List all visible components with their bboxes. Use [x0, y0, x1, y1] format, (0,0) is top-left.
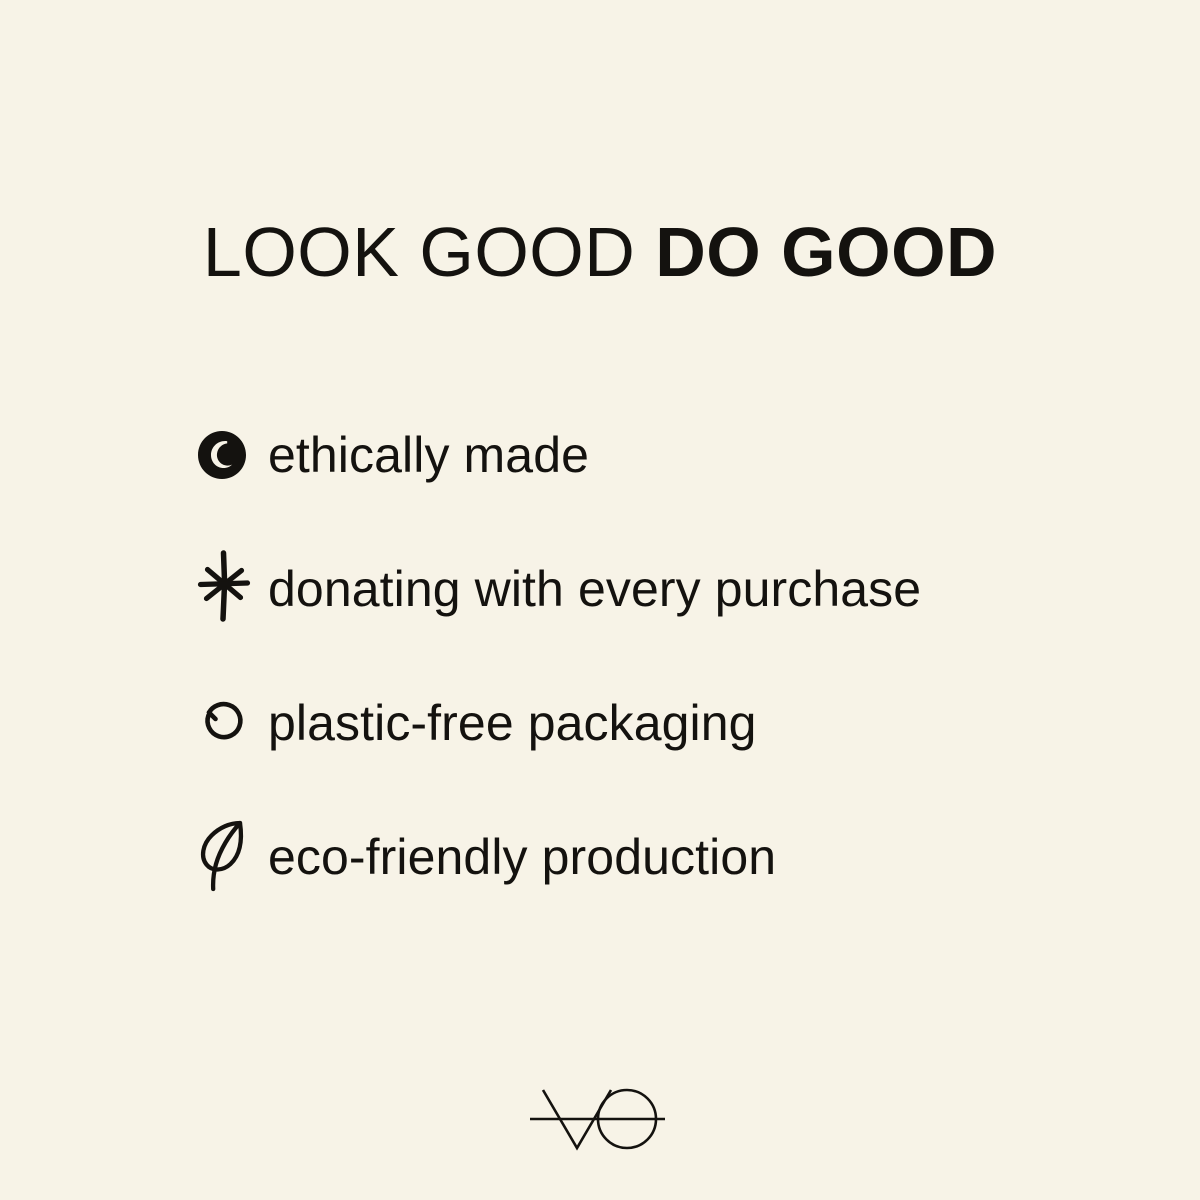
swirl-circle-icon — [196, 410, 260, 500]
list-item: donating with every purchase — [196, 544, 1096, 634]
page-title: LOOK GOOD DO GOOD — [0, 214, 1200, 290]
vo-monogram-icon — [525, 1078, 675, 1158]
list-item-label: plastic-free packaging — [260, 694, 757, 752]
page-title-bold-text: DO GOOD — [655, 213, 997, 291]
list-item-label: ethically made — [260, 426, 589, 484]
list-item-label: eco-friendly production — [260, 828, 776, 886]
leaf-icon — [196, 812, 260, 902]
list-item: eco-friendly production — [196, 812, 1096, 902]
poster-canvas: LOOK GOOD DO GOOD ethically made — [0, 0, 1200, 1200]
brand-logo — [0, 1078, 1200, 1158]
list-item: plastic-free packaging — [196, 678, 1096, 768]
list-item: ethically made — [196, 410, 1096, 500]
open-circle-icon — [196, 678, 260, 768]
list-item-label: donating with every purchase — [260, 560, 921, 618]
asterisk-star-icon — [196, 544, 260, 634]
page-title-light-text: LOOK GOOD — [203, 213, 655, 291]
feature-list: ethically made donat — [196, 410, 1096, 902]
